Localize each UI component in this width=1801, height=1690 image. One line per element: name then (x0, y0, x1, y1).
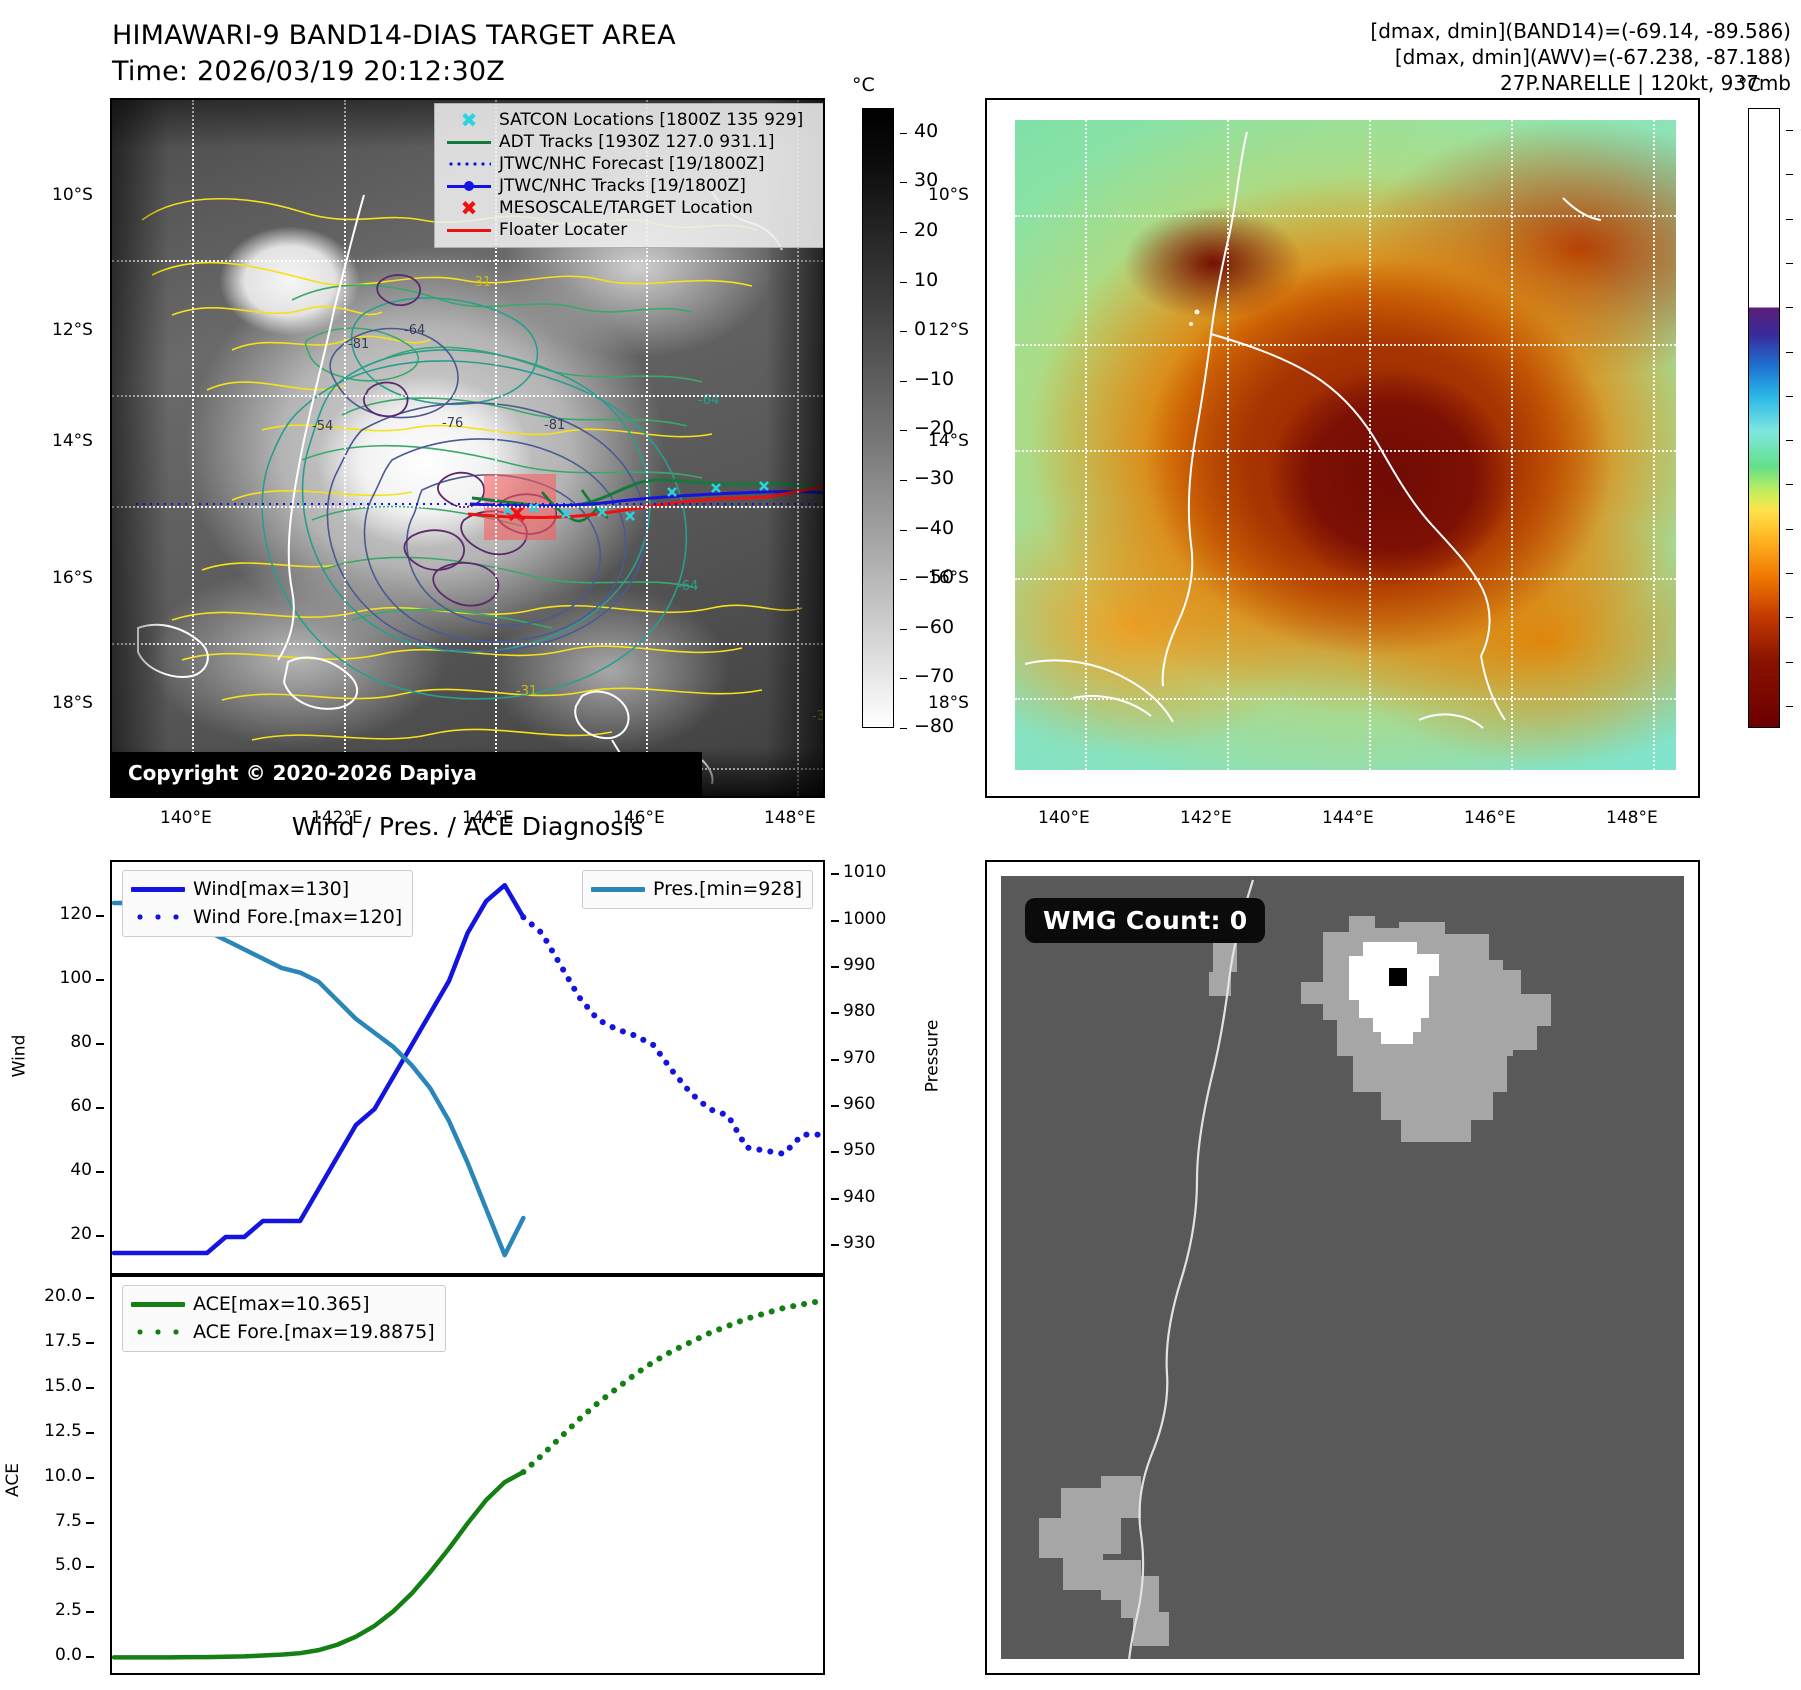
forecast-dots-icon (443, 162, 495, 166)
colorbar-tick: 10 (914, 269, 938, 291)
colorbar-tick: 0 (914, 318, 926, 340)
chart-tick-label: 60 (14, 1096, 92, 1116)
legend-label-wind: Wind[max=130] (193, 875, 349, 903)
awv-lon-tick-148e: 148°E (1606, 808, 1658, 828)
colorbar-tickmark (1786, 706, 1793, 707)
colorbar-tick: −80 (914, 715, 954, 737)
legend-row-ace-forecast[interactable]: ACE Fore.[max=19.8875] (131, 1318, 435, 1346)
chart-tick-label: 40 (14, 1160, 92, 1180)
colorbar-tickmark (1786, 573, 1793, 574)
colorbar-tickmark (1786, 440, 1793, 441)
legend-label-satcon: SATCON Locations [1800Z 135 929] (495, 109, 803, 131)
series-2 (114, 903, 523, 1255)
chart-tick-label: 10.0 (4, 1466, 82, 1486)
wind-line-icon (131, 887, 193, 892)
colorbar-tickmark (1786, 484, 1793, 485)
colorbar-tickmark (1786, 219, 1793, 220)
legend-row-ace[interactable]: ACE[max=10.365] (131, 1290, 435, 1318)
legend-row-jtwc-tracks[interactable]: JTWC/NHC Tracks [19/1800Z] (443, 175, 817, 197)
chart-tickmark (86, 1611, 94, 1613)
ace-line-icon (131, 1302, 193, 1307)
colorbar-tickmark (1786, 352, 1793, 353)
chart-tick-label: 80 (14, 1032, 92, 1052)
legend-label-floater: Floater Locater (495, 219, 627, 241)
chart-tickmark (831, 1244, 839, 1246)
series-1 (523, 917, 821, 1154)
awv-gridline-lat-18s (1015, 698, 1676, 700)
legend-row-wind-forecast[interactable]: Wind Fore.[max=120] (131, 903, 402, 931)
tracks-line-marker-icon (443, 184, 495, 188)
chart-tick-label: 0.0 (4, 1645, 82, 1665)
ace-legend[interactable]: ACE[max=10.365] ACE Fore.[max=19.8875] (122, 1285, 446, 1352)
ir-lat-tick-16s: 16°S (52, 568, 93, 588)
chart-tick-label: 950 (843, 1140, 875, 1160)
chart-tickmark (831, 873, 839, 875)
series-0 (114, 885, 523, 1253)
legend-row-adt[interactable]: ADT Tracks [1930Z 127.0 931.1] (443, 131, 817, 153)
wind-pressure-chart[interactable]: Wind[max=130] Wind Fore.[max=120] Pres.[… (110, 860, 825, 1275)
chart-tick-label: 980 (843, 1001, 875, 1021)
ir-satellite-panel[interactable]: -81 -64 -54 -76 -81 -64 -64 -31 -31 -31 (110, 98, 825, 798)
chart-tickmark (86, 1387, 94, 1389)
ir-lat-tick-14s: 14°S (52, 431, 93, 451)
awv-gridline-lat-16s (1015, 578, 1676, 580)
dmax-dmin-band14: [dmax, dmin](BAND14)=(-69.14, -89.586) (1370, 18, 1791, 44)
awv-image (1015, 120, 1676, 770)
chart-tickmark (86, 1566, 94, 1568)
chart-tickmark (831, 1198, 839, 1200)
chart-tick-label: 970 (843, 1048, 875, 1068)
colorbar-tick: 20 (914, 219, 938, 241)
chart-tick-label: 15.0 (4, 1376, 82, 1396)
chart-tick-label: 12.5 (4, 1421, 82, 1441)
legend-row-wind[interactable]: Wind[max=130] (131, 875, 402, 903)
chart-tick-label: 20 (14, 1224, 92, 1244)
chart-tick-label: 100 (14, 968, 92, 988)
colorbar-tickmark (900, 182, 907, 183)
awv-lon-tick-146e: 146°E (1464, 808, 1516, 828)
legend-label-pressure: Pres.[min=928] (653, 875, 802, 903)
colorbar-tickmark (900, 579, 907, 580)
chart-tick-label: 2.5 (4, 1600, 82, 1620)
colorbar-tickmark (1786, 174, 1793, 175)
dmax-dmin-awv: [dmax, dmin](AWV)=(-67.238, -87.188) (1370, 44, 1791, 70)
legend-label-adt: ADT Tracks [1930Z 127.0 931.1] (495, 131, 775, 153)
colorbar-tickmark (900, 480, 907, 481)
chart-tick-label: 960 (843, 1094, 875, 1114)
colorbar-tickmark (900, 282, 907, 283)
chart-tick-label: 940 (843, 1187, 875, 1207)
ace-chart[interactable]: ACE[max=10.365] ACE Fore.[max=19.8875] (110, 1275, 825, 1675)
chart-tickmark (831, 1151, 839, 1153)
colorbar-tickmark (1786, 662, 1793, 663)
chart-tick-label: 17.5 (4, 1331, 82, 1351)
awv-colorbar (1748, 108, 1780, 728)
wmg-count-badge: WMG Count: 0 (1025, 898, 1265, 943)
colorbar-tickmark (900, 133, 907, 134)
colorbar-tickmark (1786, 396, 1793, 397)
chart-tickmark (831, 1059, 839, 1061)
colorbar-tick: −70 (914, 665, 954, 687)
chart-tickmark (96, 915, 104, 917)
chart-tickmark (86, 1342, 94, 1344)
chart-tick-label: 1000 (843, 909, 886, 929)
ir-lat-tick-12s: 12°S (52, 320, 93, 340)
ir-colorbar (862, 108, 894, 728)
awv-lon-tick-140e: 140°E (1038, 808, 1090, 828)
chart-tick-label: 930 (843, 1233, 875, 1253)
legend-row-mesoscale[interactable]: ✖ MESOSCALE/TARGET Location (443, 197, 817, 219)
legend-label-wind-forecast: Wind Fore.[max=120] (193, 903, 402, 931)
colorbar-tickmark (900, 728, 907, 729)
chart-tickmark (96, 1107, 104, 1109)
copyright-text: Copyright © 2020-2026 Dapiya (128, 761, 477, 785)
legend-label-ace-forecast: ACE Fore.[max=19.8875] (193, 1318, 435, 1346)
awv-gridline-lat-12s (1015, 344, 1676, 346)
chart-tick-label: 20.0 (4, 1286, 82, 1306)
copyright-bar: Copyright © 2020-2026 Dapiya (112, 752, 702, 796)
chart-tick-label: 5.0 (4, 1555, 82, 1575)
chart-tickmark (96, 1235, 104, 1237)
awv-lat-tick-18s: 18°S (928, 693, 969, 713)
wmg-cells (1001, 876, 1684, 1659)
colorbar-tickmark (900, 629, 907, 630)
title-line-2: Time: 2026/03/19 20:12:30Z (112, 54, 912, 90)
colorbar-tick: −60 (914, 616, 954, 638)
legend-label-ace: ACE[max=10.365] (193, 1290, 370, 1318)
ir-lat-tick-10s: 10°S (52, 185, 93, 205)
chart-tickmark (96, 1043, 104, 1045)
chart-tickmark (831, 1105, 839, 1107)
pressure-axis-label: Pressure (922, 1020, 942, 1093)
legend-label-jtwc-tracks: JTWC/NHC Tracks [19/1800Z] (495, 175, 746, 197)
colorbar-tickmark (900, 381, 907, 382)
awv-gridline-lon-148e (1653, 120, 1655, 770)
colorbar-tickmark (1786, 130, 1793, 131)
colorbar-tickmark (900, 430, 907, 431)
awv-gridline-lon-146e (1511, 120, 1513, 770)
awv-gridline-lat-10s (1015, 215, 1676, 217)
chart-tickmark (86, 1432, 94, 1434)
chart-tick-label: 1010 (843, 862, 886, 882)
wmg-canvas: WMG Count: 0 (1001, 876, 1684, 1659)
legend-label-jtwc-forecast: JTWC/NHC Forecast [19/1800Z] (495, 153, 764, 175)
colorbar-tickmark (900, 678, 907, 679)
legend-row-pressure[interactable]: Pres.[min=928] (591, 875, 802, 903)
colorbar-tickmark (1786, 263, 1793, 264)
mesoscale-x-icon: ✖ (443, 198, 495, 218)
awv-gridline-lon-140e (1085, 120, 1087, 770)
series-0 (114, 1472, 523, 1657)
chart-tickmark (86, 1297, 94, 1299)
legend-row-floater[interactable]: Floater Locater (443, 219, 817, 241)
colorbar-tickmark (1786, 307, 1793, 308)
ir-legend[interactable]: ✖ SATCON Locations [1800Z 135 929] ADT T… (434, 103, 825, 248)
diagnosis-title: Wind / Pres. / ACE Diagnosis (110, 812, 825, 841)
pressure-legend[interactable]: Pres.[min=928] (582, 870, 813, 909)
colorbar-tick: −30 (914, 467, 954, 489)
chart-tickmark (96, 1171, 104, 1173)
awv-coastline-overlay (1015, 120, 1676, 770)
awv-lat-tick-14s: 14°S (928, 431, 969, 451)
ir-colorbar-unit: °C (852, 74, 875, 96)
awv-gridline-lon-142e (1227, 120, 1229, 770)
awv-lat-tick-16s: 16°S (928, 568, 969, 588)
colorbar-tickmark (1786, 529, 1793, 530)
colorbar-tickmark (1786, 617, 1793, 618)
awv-colorbar-unit: °C (1738, 74, 1761, 96)
wmg-count-text: WMG Count: 0 (1043, 906, 1247, 935)
ir-lat-tick-18s: 18°S (52, 693, 93, 713)
colorbar-tickmark (900, 331, 907, 332)
awv-gridline-lon-144e (1369, 120, 1371, 770)
colorbar-tick: −10 (914, 368, 954, 390)
chart-tickmark (86, 1656, 94, 1658)
chart-tickmark (86, 1522, 94, 1524)
storm-summary: 27P.NARELLE | 120kt, 937mb (1370, 70, 1791, 96)
title-line-1: HIMAWARI-9 BAND14-DIAS TARGET AREA (112, 18, 912, 54)
colorbar-tickmark (900, 530, 907, 531)
chart-tickmark (831, 1012, 839, 1014)
chart-tickmark (831, 920, 839, 922)
page-title: HIMAWARI-9 BAND14-DIAS TARGET AREA Time:… (112, 18, 912, 90)
adt-line-icon (443, 141, 495, 144)
ace-forecast-dots-icon (131, 1329, 193, 1335)
awv-lat-tick-10s: 10°S (928, 185, 969, 205)
colorbar-tick: −40 (914, 517, 954, 539)
wind-forecast-dots-icon (131, 914, 193, 920)
chart-tickmark (831, 966, 839, 968)
wmg-panel[interactable]: WMG Count: 0 (985, 860, 1700, 1675)
floater-line-icon (443, 229, 495, 232)
awv-lat-tick-12s: 12°S (928, 320, 969, 340)
awv-satellite-panel[interactable] (985, 98, 1700, 798)
chart-tick-label: 7.5 (4, 1511, 82, 1531)
chart-tickmark (86, 1477, 94, 1479)
chart-tickmark (96, 979, 104, 981)
pressure-line-icon (591, 887, 653, 892)
chart-tick-label: 990 (843, 955, 875, 975)
legend-row-jtwc-forecast[interactable]: JTWC/NHC Forecast [19/1800Z] (443, 153, 817, 175)
awv-lon-tick-144e: 144°E (1322, 808, 1374, 828)
wind-legend[interactable]: Wind[max=130] Wind Fore.[max=120] (122, 870, 413, 937)
legend-label-mesoscale: MESOSCALE/TARGET Location (495, 197, 753, 219)
satcon-x-icon: ✖ (443, 110, 495, 130)
series-1 (523, 1301, 821, 1472)
chart-tick-label: 120 (14, 904, 92, 924)
awv-gridline-lat-14s (1015, 450, 1676, 452)
header-stats: [dmax, dmin](BAND14)=(-69.14, -89.586) [… (1370, 18, 1791, 96)
legend-row-satcon[interactable]: ✖ SATCON Locations [1800Z 135 929] (443, 109, 817, 131)
colorbar-tick: 40 (914, 120, 938, 142)
awv-lon-tick-142e: 142°E (1180, 808, 1232, 828)
colorbar-tickmark (900, 232, 907, 233)
